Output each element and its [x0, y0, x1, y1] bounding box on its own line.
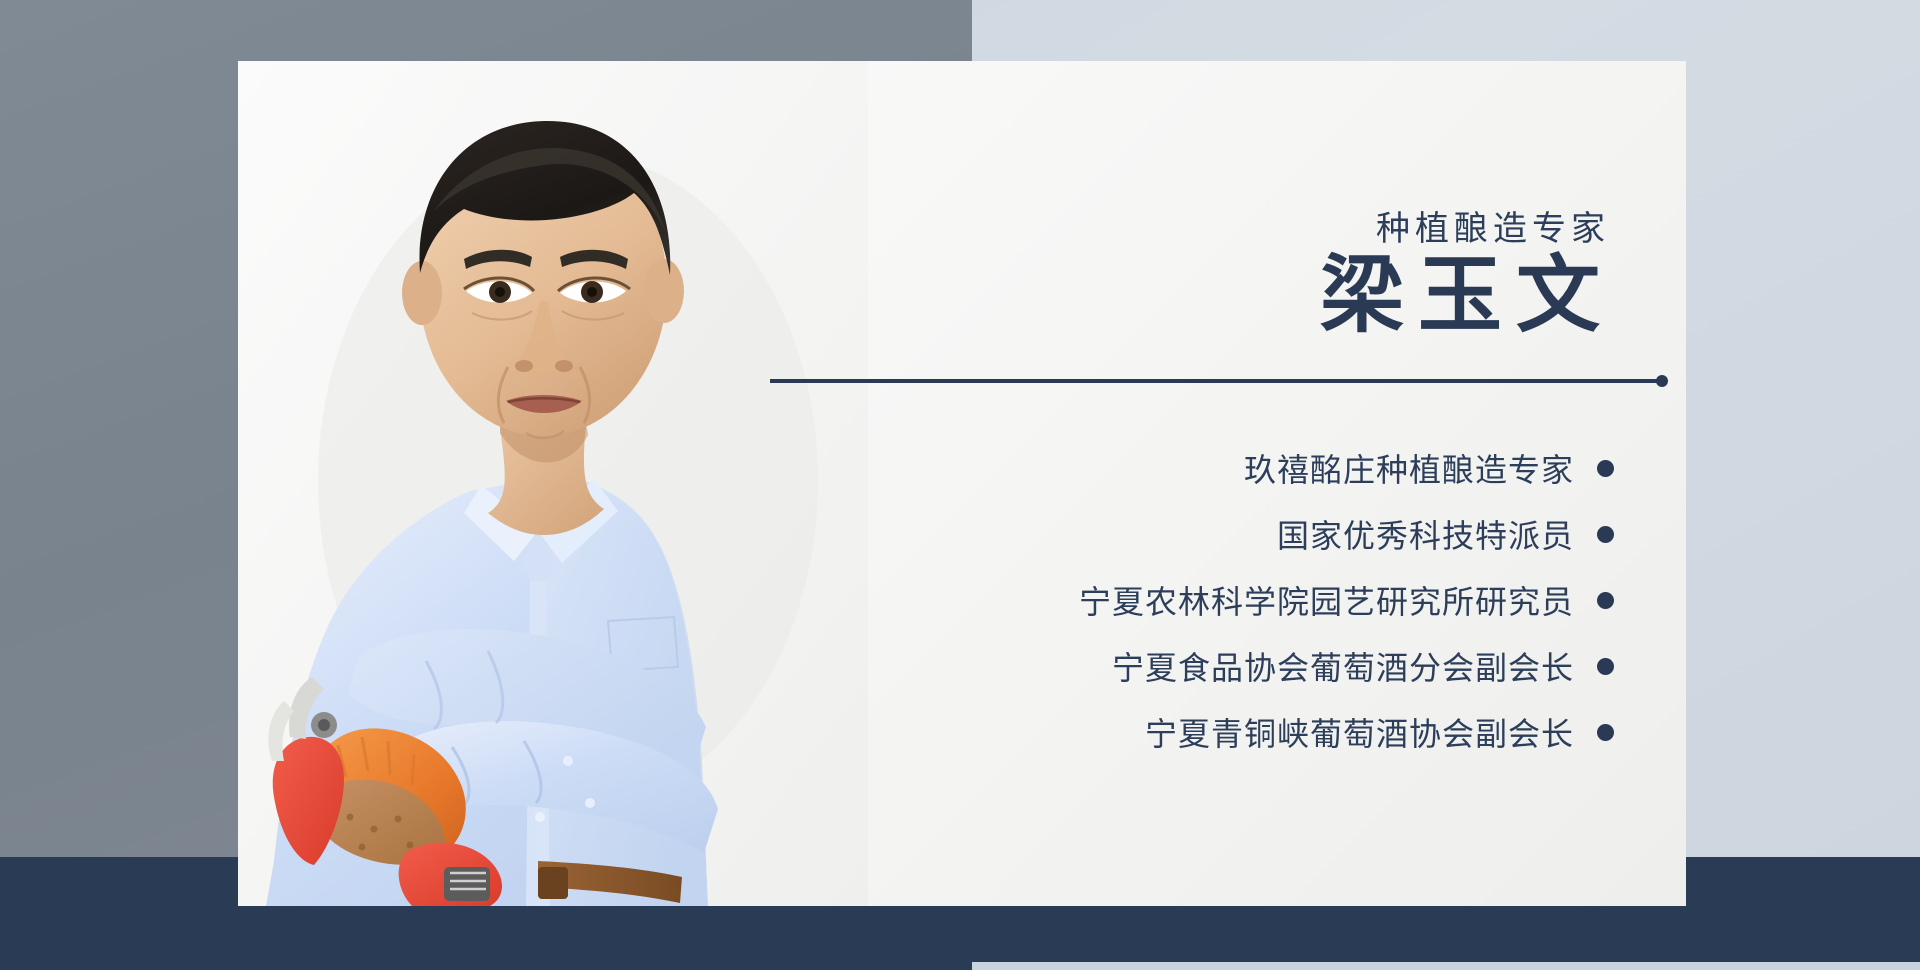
credential-text: 玖禧酩庄种植酿造专家	[1244, 445, 1574, 491]
credential-text: 宁夏青铜峡葡萄酒协会副会长	[1145, 709, 1574, 755]
credential-text: 国家优秀科技特派员	[1277, 511, 1574, 557]
bullet-dot-icon	[1597, 526, 1614, 543]
bullet-dot-icon	[1597, 724, 1614, 741]
background-bottom-strip	[972, 962, 1920, 970]
profile-card: 种植酿造专家 梁玉文 玖禧酩庄种植酿造专家 国家优秀科技特派员 宁夏农林科学院园…	[238, 61, 1686, 906]
poster-stage: 种植酿造专家 梁玉文 玖禧酩庄种植酿造专家 国家优秀科技特派员 宁夏农林科学院园…	[0, 0, 1920, 970]
list-item: 宁夏农林科学院园艺研究所研究员	[874, 573, 1614, 627]
bullet-dot-icon	[1597, 460, 1614, 477]
profile-subtitle: 种植酿造专家	[1376, 201, 1610, 250]
profile-info: 种植酿造专家 梁玉文 玖禧酩庄种植酿造专家 国家优秀科技特派员 宁夏农林科学院园…	[868, 61, 1686, 906]
portrait-photo	[238, 61, 868, 906]
bullet-dot-icon	[1597, 592, 1614, 609]
divider-line	[770, 379, 1664, 383]
list-item: 玖禧酩庄种植酿造专家	[874, 441, 1614, 495]
list-item: 宁夏青铜峡葡萄酒协会副会长	[874, 705, 1614, 759]
divider	[770, 374, 1686, 388]
credential-text: 宁夏食品协会葡萄酒分会副会长	[1112, 643, 1574, 689]
credential-text: 宁夏农林科学院园艺研究所研究员	[1079, 577, 1574, 623]
list-item: 宁夏食品协会葡萄酒分会副会长	[874, 639, 1614, 693]
credentials-list: 玖禧酩庄种植酿造专家 国家优秀科技特派员 宁夏农林科学院园艺研究所研究员 宁夏食…	[874, 441, 1614, 771]
divider-end-dot	[1656, 375, 1668, 387]
profile-name: 梁玉文	[1320, 249, 1614, 346]
bullet-dot-icon	[1597, 658, 1614, 675]
list-item: 国家优秀科技特派员	[874, 507, 1614, 561]
